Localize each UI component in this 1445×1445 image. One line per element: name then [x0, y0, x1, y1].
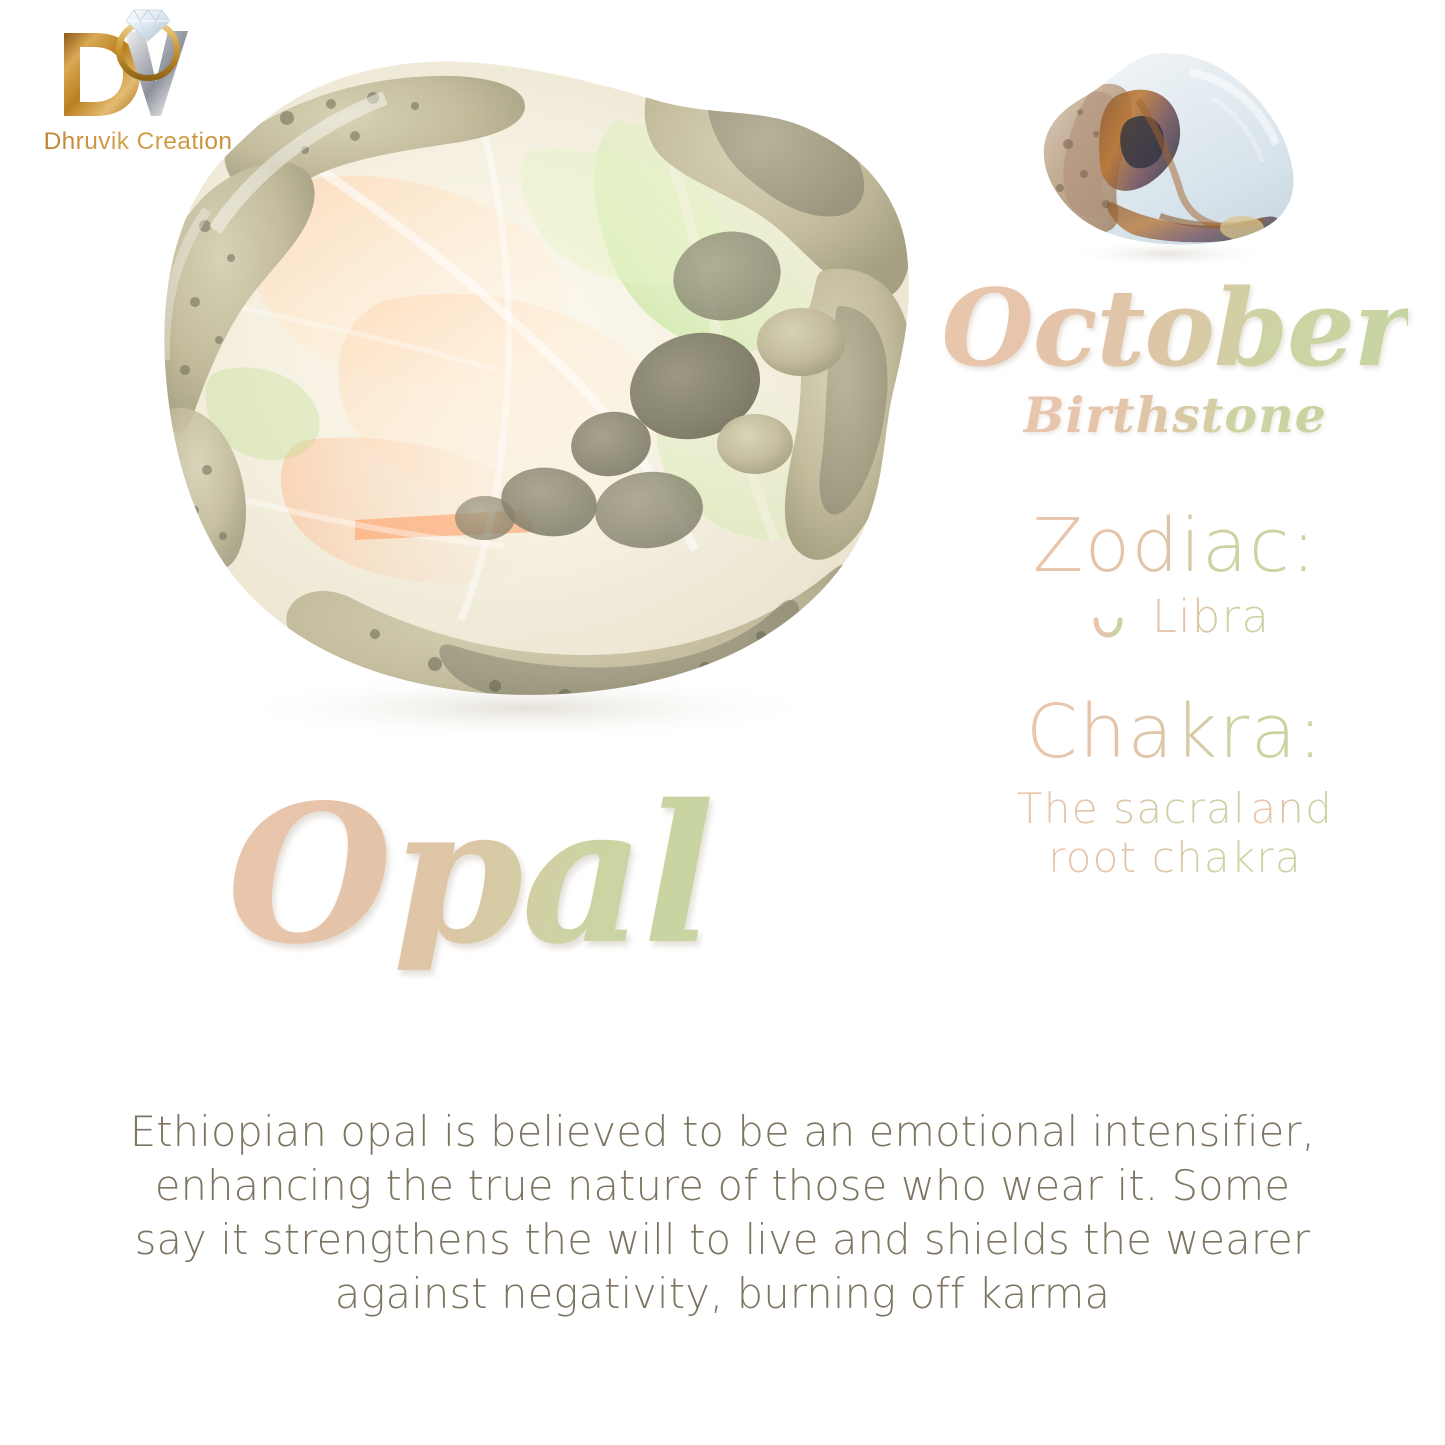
zodiac-label: Zodiac: — [1033, 508, 1318, 586]
zodiac-block: Zodiac: Libra — [940, 508, 1410, 642]
small-opal-thumbnail — [1020, 38, 1320, 286]
chakra-block: Chakra: The sacral and root chakra — [940, 694, 1410, 883]
attributes-panel: October Birthstone Zodiac: — [940, 275, 1410, 883]
stone-name-title: Opal — [180, 780, 760, 970]
stone-name-text: Opal — [227, 780, 713, 970]
chakra-line-1: The sacral — [1017, 784, 1246, 834]
birthstone-subtitle: Birthstone — [1023, 391, 1327, 440]
month-title: October — [942, 275, 1409, 381]
chakra-line-2: and — [1250, 784, 1333, 834]
chakra-label: Chakra: — [1026, 694, 1324, 772]
libra-sign-icon — [1080, 596, 1136, 638]
main-opal-image — [55, 40, 955, 760]
birthstone-infographic: Dhruvik Creation — [0, 0, 1445, 1445]
description-text: Ethiopian opal is believed to be an emot… — [40, 1105, 1405, 1321]
zodiac-value: Libra — [1152, 592, 1270, 642]
chakra-line-3: root chakra — [1048, 833, 1302, 883]
